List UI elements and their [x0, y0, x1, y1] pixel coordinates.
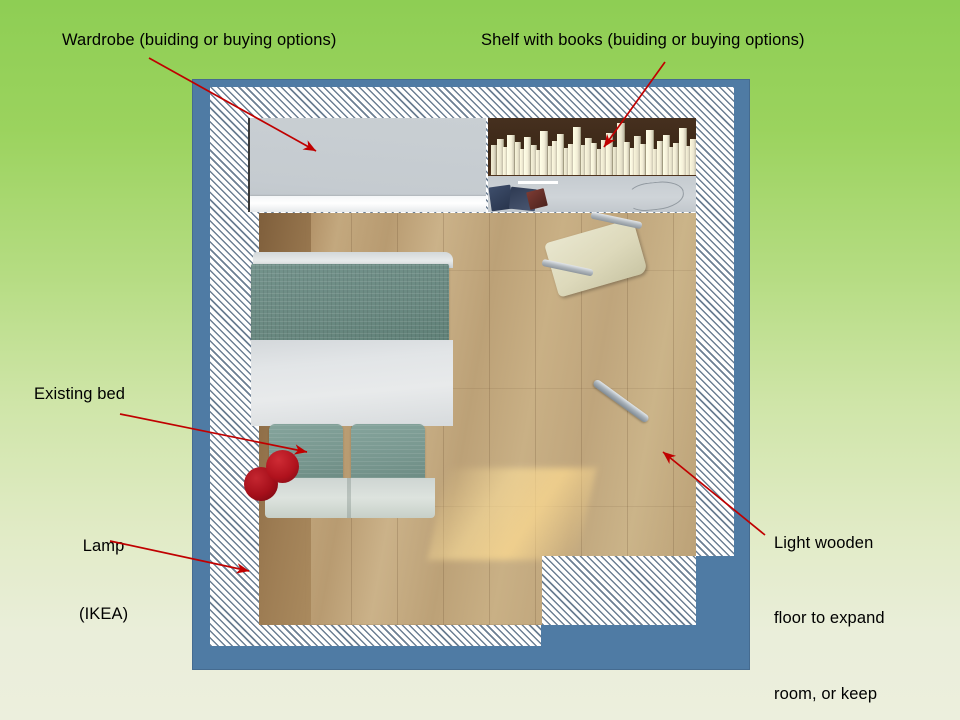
shelf-board: [488, 118, 696, 178]
book: [557, 134, 564, 175]
book: [690, 139, 696, 175]
desk-paper: [518, 181, 558, 184]
bed-pillow-right: [351, 424, 425, 482]
book: [573, 127, 581, 175]
book: [540, 131, 548, 175]
desk-cable: [627, 179, 686, 213]
annotation-floor: Light wooden floor to expand room, or ke…: [774, 481, 891, 720]
annotation-floor-line3: room, or keep: [774, 682, 891, 707]
annotation-lamp-line1: Lamp: [79, 535, 128, 558]
annotation-lamp-line2: (IKEA): [79, 603, 128, 626]
annotation-floor-line2: floor to expand: [774, 606, 891, 631]
wardrobe-object: [248, 118, 486, 212]
annotation-wardrobe: Wardrobe (buiding or buying options): [62, 29, 336, 52]
bed-foot-seam: [347, 478, 351, 518]
annotation-lamp: Lamp (IKEA): [79, 489, 128, 671]
annotation-shelf: Shelf with books (buiding or buying opti…: [481, 29, 805, 52]
annotation-floor-line1: Light wooden: [774, 531, 891, 556]
desk-item-red: [526, 188, 548, 210]
book: [507, 135, 515, 175]
bed-headboard: [251, 264, 449, 342]
book: [524, 137, 531, 175]
floorplan-image: [193, 80, 749, 669]
book: [606, 133, 613, 175]
wardrobe-front-edge: [250, 196, 486, 212]
bed-mattress: [251, 340, 453, 426]
slide-canvas: Wardrobe (buiding or buying options) She…: [0, 0, 960, 720]
desk-surface: [488, 176, 696, 212]
lamp-object-b: [266, 450, 299, 483]
annotation-bed: Existing bed: [34, 383, 125, 406]
bookshelf-object: [488, 118, 696, 212]
floor-corner-notch: [542, 556, 696, 625]
